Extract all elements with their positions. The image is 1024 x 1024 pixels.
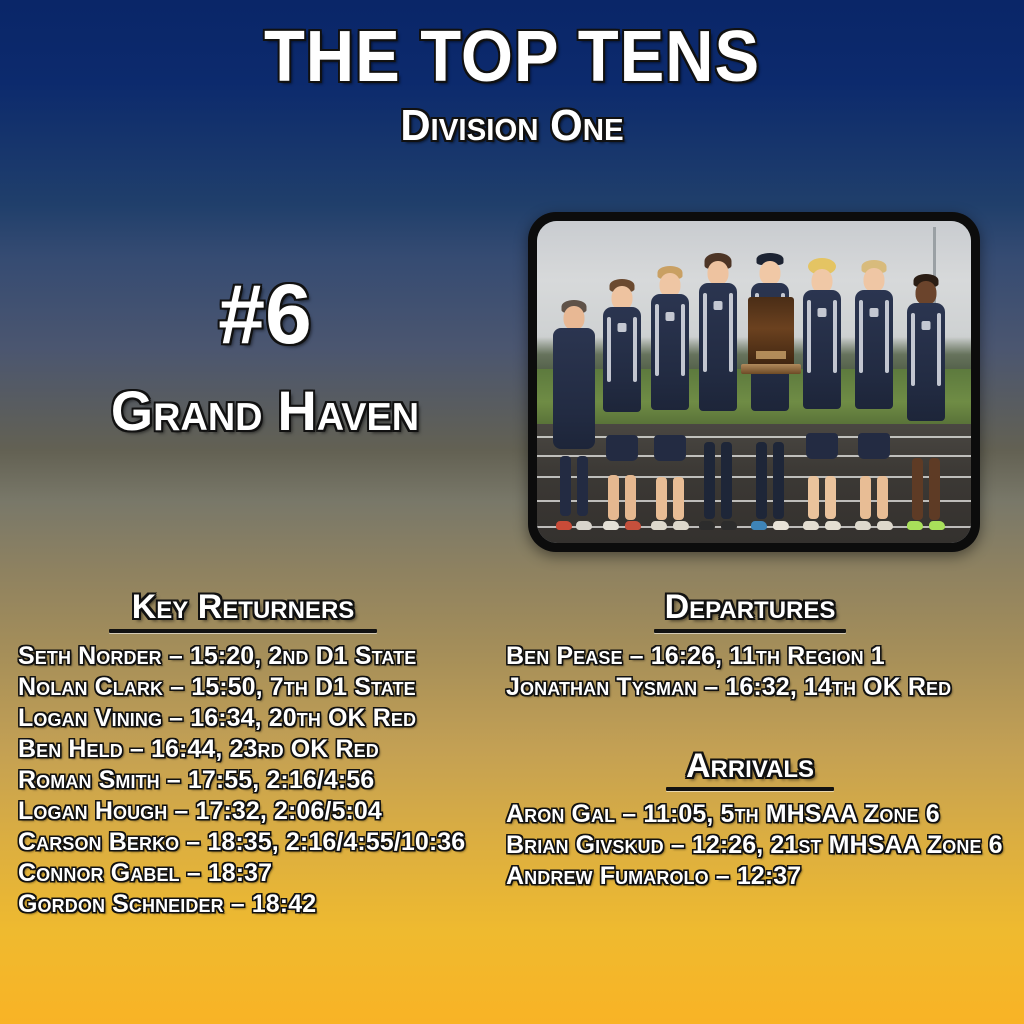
photo-person-6 <box>854 260 894 530</box>
arrivals-list: Aron Gal – 11:05, 5th MHSAA Zone 6 Brian… <box>490 799 1010 892</box>
list-item: Gordon Schneider – 18:42 <box>8 889 478 920</box>
right-column: Departures Ben Pease – 16:26, 11th Regio… <box>490 590 1010 892</box>
list-item: Seth Norder – 15:20, 2nd D1 State <box>8 641 478 672</box>
key-returners-underline <box>109 629 377 633</box>
header: THE TOP TENS Division One <box>0 20 1024 150</box>
list-item: Roman Smith – 17:55, 2:16/4:56 <box>8 765 478 796</box>
team-photo <box>537 221 971 543</box>
arrivals-block: Arrivals Aron Gal – 11:05, 5th MHSAA Zon… <box>490 749 1010 893</box>
photo-person-7 <box>906 273 946 531</box>
list-item: Ben Pease – 16:26, 11th Region 1 <box>490 641 1010 672</box>
list-item: Ben Held – 16:44, 23rd OK Red <box>8 734 478 765</box>
arrivals-underline <box>666 787 834 791</box>
departures-block: Departures Ben Pease – 16:26, 11th Regio… <box>490 590 1010 703</box>
rank-block: #6 Grand Haven <box>22 272 508 441</box>
list-item: Brian Givskud – 12:26, 21st MHSAA Zone 6 <box>490 830 1010 861</box>
list-item: Andrew Fumarolo – 12:37 <box>490 861 1010 892</box>
list-item: Logan Hough – 17:32, 2:06/5:04 <box>8 796 478 827</box>
photo-person-1 <box>602 279 642 530</box>
photo-person-2 <box>650 266 690 530</box>
arrivals-heading: Arrivals <box>686 749 814 785</box>
list-item: Logan Vining – 16:34, 20th OK Red <box>8 703 478 734</box>
photo-person-coach <box>554 298 594 530</box>
list-item: Aron Gal – 11:05, 5th MHSAA Zone 6 <box>490 799 1010 830</box>
rosters: Key Returners Seth Norder – 15:20, 2nd D… <box>0 590 1024 1024</box>
key-returners-block: Key Returners Seth Norder – 15:20, 2nd D… <box>8 590 478 920</box>
poster-canvas: THE TOP TENS Division One #6 Grand Haven <box>0 0 1024 1024</box>
rank-number: #6 <box>22 272 508 356</box>
photo-person-4 <box>750 253 790 530</box>
list-item: Carson Berko – 18:35, 2:16/4:55/10:36 <box>8 827 478 858</box>
departures-underline <box>654 629 846 633</box>
page-title: THE TOP TENS <box>36 20 988 96</box>
list-item: Connor Gabel – 18:37 <box>8 858 478 889</box>
key-returners-list: Seth Norder – 15:20, 2nd D1 State Nolan … <box>8 641 478 920</box>
team-photo-frame <box>528 212 980 552</box>
list-item: Jonathan Tysman – 16:32, 14th OK Red <box>490 672 1010 703</box>
list-item: Nolan Clark – 15:50, 7th D1 State <box>8 672 478 703</box>
key-returners-heading: Key Returners <box>132 590 355 626</box>
photo-person-5 <box>802 260 842 530</box>
departures-heading: Departures <box>665 590 836 626</box>
page-subtitle: Division One <box>26 102 999 150</box>
photo-trophy <box>748 297 794 367</box>
departures-list: Ben Pease – 16:26, 11th Region 1 Jonatha… <box>490 641 1010 703</box>
team-name: Grand Haven <box>29 382 500 441</box>
photo-person-3 <box>698 253 738 530</box>
